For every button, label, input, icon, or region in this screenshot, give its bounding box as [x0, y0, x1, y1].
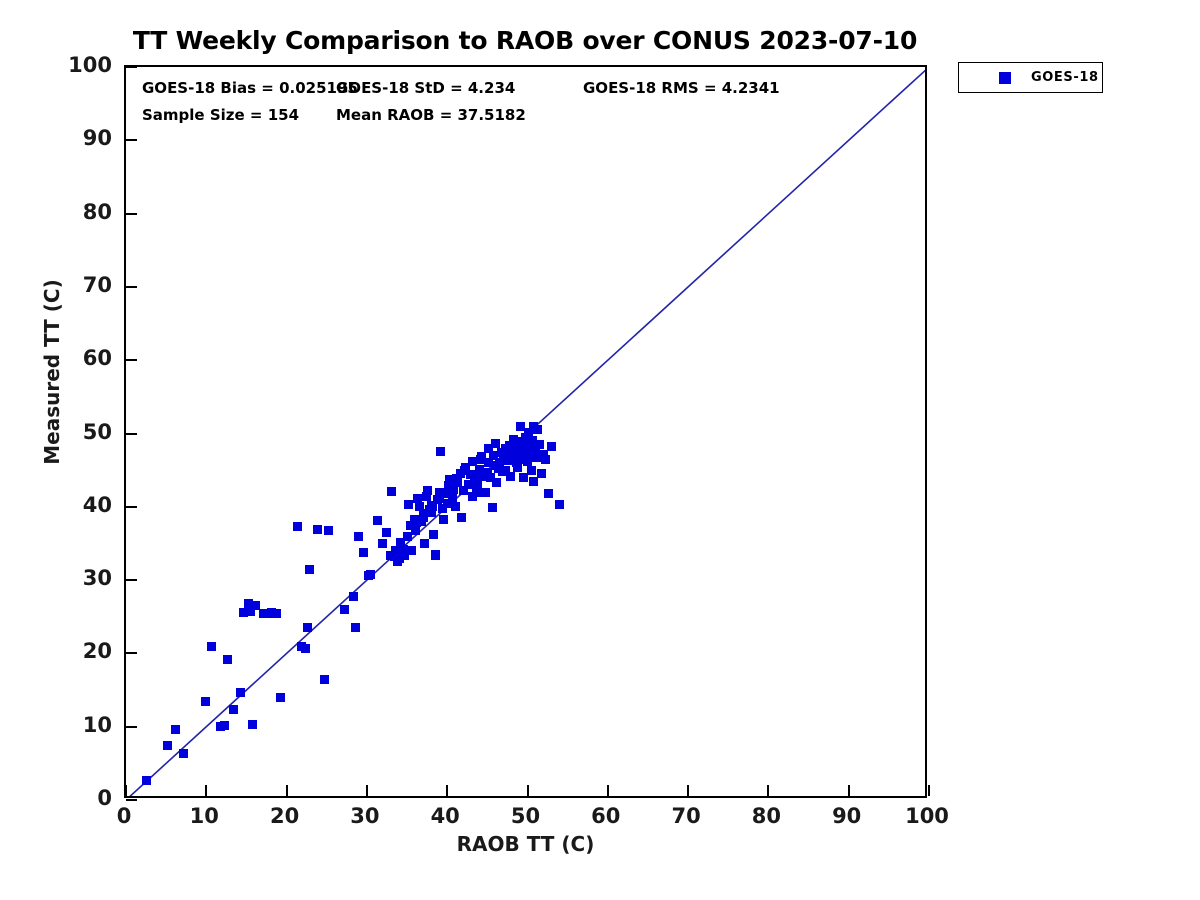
scatter-point	[378, 539, 387, 548]
scatter-point	[142, 776, 151, 785]
legend-marker-goes-18	[999, 72, 1011, 84]
scatter-point	[382, 528, 391, 537]
x-tick-label: 60	[591, 804, 620, 828]
scatter-point	[423, 486, 432, 495]
x-tick-label: 30	[350, 804, 379, 828]
x-tick-label: 90	[832, 804, 861, 828]
scatter-point	[427, 501, 436, 510]
plot-area	[124, 65, 927, 798]
y-tick-label: 70	[83, 273, 112, 297]
scatter-point	[171, 725, 180, 734]
scatter-point	[359, 548, 368, 557]
y-tick-mark	[126, 433, 137, 435]
x-tick-mark	[205, 785, 207, 796]
scatter-point	[340, 605, 349, 614]
scatter-point	[320, 675, 329, 684]
scatter-point	[529, 477, 538, 486]
annotation-mean-raob: Mean RAOB = 37.5182	[336, 106, 526, 124]
scatter-point	[366, 570, 375, 579]
y-tick-mark	[126, 506, 137, 508]
y-tick-mark	[126, 139, 137, 141]
legend-label-goes-18: GOES-18	[1031, 70, 1099, 85]
scatter-point	[313, 525, 322, 534]
x-tick-label: 50	[511, 804, 540, 828]
x-tick-label: 20	[270, 804, 299, 828]
y-tick-mark	[126, 213, 137, 215]
x-tick-label: 80	[752, 804, 781, 828]
x-tick-mark	[607, 785, 609, 796]
scatter-point	[481, 488, 490, 497]
y-tick-mark	[126, 286, 137, 288]
annotation-sample-size: Sample Size = 154	[142, 106, 299, 124]
y-tick-label: 0	[97, 786, 112, 810]
x-tick-mark	[366, 785, 368, 796]
y-tick-label: 30	[83, 566, 112, 590]
y-tick-mark	[126, 726, 137, 728]
scatter-point	[457, 513, 466, 522]
scatter-point	[537, 469, 546, 478]
x-tick-mark	[446, 785, 448, 796]
x-tick-mark	[125, 785, 127, 796]
annotation-std: GOES-18 StD = 4.234	[336, 79, 515, 97]
scatter-point	[201, 697, 210, 706]
scatter-point	[403, 532, 412, 541]
scatter-points-layer	[126, 67, 925, 796]
y-tick-label: 60	[83, 346, 112, 370]
scatter-point	[387, 487, 396, 496]
scatter-point	[324, 526, 333, 535]
scatter-point	[411, 526, 420, 535]
scatter-point	[431, 551, 440, 560]
scatter-point	[407, 546, 416, 555]
y-tick-mark	[126, 359, 137, 361]
x-tick-label: 70	[671, 804, 700, 828]
scatter-point	[293, 522, 302, 531]
x-tick-label: 10	[190, 804, 219, 828]
scatter-point	[207, 642, 216, 651]
scatter-point	[492, 478, 501, 487]
y-axis-label: Measured TT (C)	[40, 272, 64, 472]
scatter-point	[448, 493, 457, 502]
y-tick-mark	[126, 579, 137, 581]
scatter-point	[506, 472, 515, 481]
scatter-point	[248, 720, 257, 729]
scatter-point	[451, 502, 460, 511]
scatter-point	[404, 500, 413, 509]
scatter-point	[477, 452, 486, 461]
y-tick-label: 100	[68, 53, 112, 77]
scatter-point	[555, 500, 564, 509]
scatter-point	[373, 516, 382, 525]
y-tick-label: 80	[83, 200, 112, 224]
x-tick-label: 40	[431, 804, 460, 828]
scatter-point	[305, 565, 314, 574]
scatter-point	[163, 741, 172, 750]
x-tick-mark	[767, 785, 769, 796]
scatter-point	[429, 530, 438, 539]
scatter-point	[354, 532, 363, 541]
y-tick-mark	[126, 66, 137, 68]
scatter-point	[220, 721, 229, 730]
scatter-point	[544, 489, 553, 498]
y-tick-label: 90	[83, 126, 112, 150]
y-tick-mark	[126, 799, 137, 801]
chart-figure: TT Weekly Comparison to RAOB over CONUS …	[0, 0, 1200, 900]
scatter-point	[223, 655, 232, 664]
x-tick-mark	[928, 785, 930, 796]
y-tick-label: 10	[83, 713, 112, 737]
scatter-point	[301, 644, 310, 653]
scatter-point	[535, 440, 544, 449]
scatter-point	[435, 494, 444, 503]
scatter-point	[272, 609, 281, 618]
x-tick-mark	[687, 785, 689, 796]
scatter-point	[460, 466, 469, 475]
scatter-point	[529, 422, 538, 431]
scatter-point	[179, 749, 188, 758]
annotation-rms: GOES-18 RMS = 4.2341	[583, 79, 780, 97]
chart-title: TT Weekly Comparison to RAOB over CONUS …	[0, 26, 1050, 55]
scatter-point	[236, 688, 245, 697]
scatter-point	[439, 515, 448, 524]
scatter-point	[547, 442, 556, 451]
scatter-point	[488, 503, 497, 512]
scatter-point	[468, 457, 477, 466]
x-tick-mark	[848, 785, 850, 796]
scatter-point	[351, 623, 360, 632]
scatter-point	[229, 705, 238, 714]
y-tick-mark	[126, 652, 137, 654]
scatter-point	[527, 466, 536, 475]
x-tick-label: 0	[117, 804, 132, 828]
y-tick-label: 40	[83, 493, 112, 517]
scatter-point	[420, 539, 429, 548]
scatter-point	[303, 623, 312, 632]
y-tick-label: 50	[83, 420, 112, 444]
scatter-point	[444, 481, 453, 490]
scatter-point	[419, 509, 428, 518]
x-tick-label: 100	[905, 804, 949, 828]
x-axis-label: RAOB TT (C)	[124, 832, 927, 856]
scatter-point	[349, 592, 358, 601]
scatter-point	[436, 447, 445, 456]
scatter-point	[412, 518, 421, 527]
chart-legend: GOES-18	[958, 62, 1103, 93]
y-tick-label: 20	[83, 639, 112, 663]
scatter-point	[541, 455, 550, 464]
annotation-bias: GOES-18 Bias = 0.025195	[142, 79, 358, 97]
x-tick-mark	[527, 785, 529, 796]
scatter-point	[276, 693, 285, 702]
x-tick-mark	[286, 785, 288, 796]
